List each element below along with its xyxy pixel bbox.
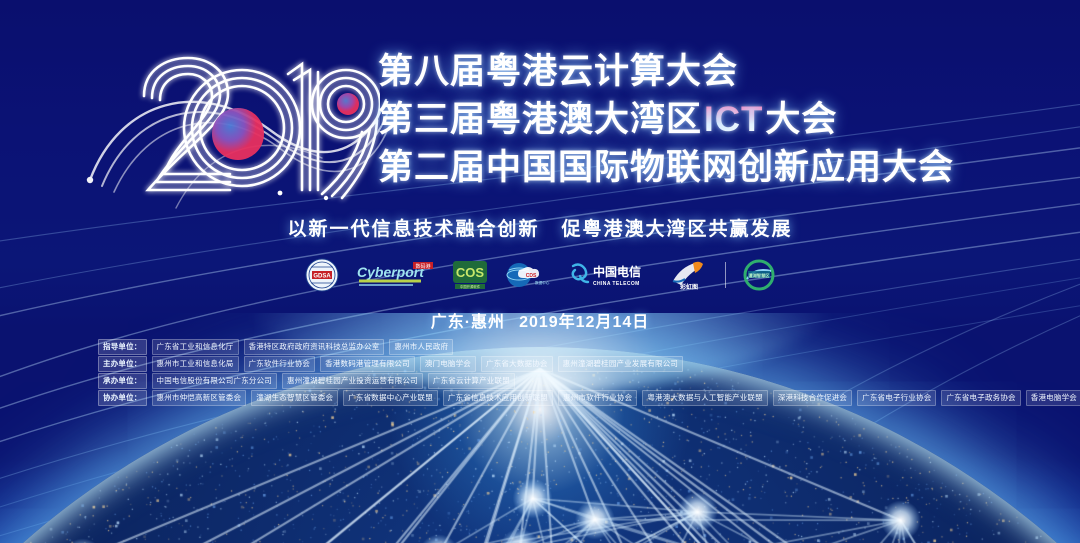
title-line-1: 第八届粤港云计算大会 [378, 54, 954, 89]
title-line-2: 第三届粤港澳大湾区ICT大会 [378, 102, 954, 137]
cos-logo: COS 中国开源软件 [451, 258, 489, 292]
year-2019-logo [130, 48, 380, 208]
organizer-row-label: 指导单位： [98, 339, 147, 355]
logo-dot-large [212, 108, 264, 160]
organizer-item: 惠州市人民政府 [389, 339, 453, 355]
organizer-item: 澳门电脑学会 [420, 356, 476, 372]
place-and-date: 广东·惠州2019年12月14日 [0, 308, 1080, 332]
organizer-item: 潼湖生态智慧区管委会 [251, 390, 338, 406]
organizer-item: 粤港澳大数据与人工智能产业联盟 [642, 390, 768, 406]
svg-text:中国开源软件: 中国开源软件 [459, 284, 480, 289]
sponsor-logo-strip: GDSA Cyberport 数码港 COS [0, 258, 1080, 292]
logo-divider [725, 262, 726, 288]
organizer-item: 广东省电子行业协会 [857, 390, 936, 406]
svg-text:GDSA: GDSA [313, 274, 331, 280]
organizer-list: 指导单位：广东省工业和信息化厅香港特区政府政府资讯科技总监办公室惠州市人民政府主… [0, 338, 1080, 406]
organizer-row: 承办单位：中国电信股份有限公司广东分公司惠州潼湖碧桂园产业投资运营有限公司广东省… [0, 372, 1080, 389]
organizer-item: 广东省工业和信息化厅 [152, 339, 239, 355]
logo-dot-small [337, 93, 359, 115]
globe-cloud-logo: CDS 数据中心 [505, 258, 551, 292]
organizer-item: 广东省云计算产业联盟 [428, 373, 515, 389]
svg-text:COS: COS [455, 265, 484, 280]
organizer-item: 广东省数据中心产业联盟 [343, 390, 438, 406]
title-line-2-prefix: 第三届粤港澳大湾区 [378, 100, 702, 139]
organizer-item: 中国电信股份有限公司广东分公司 [152, 373, 278, 389]
place-text: 广东·惠州 [431, 314, 505, 331]
organizer-item: 惠州潼湖碧桂园产业投资运营有限公司 [282, 373, 423, 389]
organizer-row-label: 承办单位： [98, 373, 147, 389]
svg-text:数据中心: 数据中心 [535, 280, 550, 285]
organizer-item: 香港数码港管理有限公司 [320, 356, 415, 372]
organizer-item: 广东省信息技术应用创新联盟 [443, 390, 553, 406]
pen-logo: 彩虹图 [669, 258, 709, 292]
organizer-item: 惠州市仲恺高新区管委会 [152, 390, 247, 406]
svg-text:CHINA TELECOM: CHINA TELECOM [593, 281, 640, 287]
cyberport-logo: Cyberport 数码港 [355, 258, 435, 292]
svg-text:数码港: 数码港 [415, 263, 430, 270]
svg-text:中国电信: 中国电信 [593, 264, 641, 279]
slogan-right: 促粤港澳大湾区共赢发展 [562, 219, 793, 240]
organizer-row-label: 协办单位： [98, 390, 147, 406]
svg-text:潼湖智慧区: 潼湖智慧区 [748, 272, 770, 279]
title-line-2-suffix: 大会 [765, 100, 837, 139]
organizer-item: 广东省电子政务协会 [941, 390, 1020, 406]
date-text: 2019年12月14日 [519, 314, 649, 331]
title-block: 第八届粤港云计算大会 第三届粤港澳大湾区ICT大会 第二届中国国际物联网创新应用… [378, 54, 954, 185]
svg-text:CDS: CDS [525, 273, 536, 279]
organizer-row-label: 主办单位： [98, 356, 147, 372]
organizer-item: 惠州市工业和信息化局 [152, 356, 239, 372]
organizer-item: 惠州潼湖碧桂园产业发展有限公司 [558, 356, 684, 372]
svg-text:彩虹图: 彩虹图 [678, 283, 697, 291]
china-telecom-logo: 中国电信 CHINA TELECOM [567, 258, 653, 292]
gdsa-seal-logo: GDSA [305, 258, 339, 292]
organizer-row: 协办单位：惠州市仲恺高新区管委会潼湖生态智慧区管委会广东省数据中心产业联盟广东省… [0, 389, 1080, 406]
organizer-item: 香港电脑学会 [1026, 390, 1080, 406]
title-line-3: 第二届中国国际物联网创新应用大会 [378, 150, 954, 185]
organizer-item: 香港特区政府政府资讯科技总监办公室 [244, 339, 385, 355]
organizer-row: 主办单位：惠州市工业和信息化局广东软件行业协会香港数码港管理有限公司澳门电脑学会… [0, 355, 1080, 372]
green-ring-logo: 潼湖智慧区 [742, 258, 776, 292]
organizer-row: 指导单位：广东省工业和信息化厅香港特区政府政府资讯科技总监办公室惠州市人民政府 [0, 338, 1080, 355]
organizer-item: 广东软件行业协会 [244, 356, 316, 372]
organizer-item: 深港科技合作促进会 [773, 390, 852, 406]
organizer-item: 惠州市软件行业协会 [558, 390, 637, 406]
slogan: 以新一代信息技术融合创新促粤港澳大湾区共赢发展 [0, 214, 1080, 241]
conference-banner: 第八届粤港云计算大会 第三届粤港澳大湾区ICT大会 第二届中国国际物联网创新应用… [0, 0, 1080, 543]
title-line-2-accent: ICT [702, 100, 765, 139]
slogan-left: 以新一代信息技术融合创新 [287, 219, 539, 240]
organizer-item: 广东省大数据协会 [481, 356, 553, 372]
